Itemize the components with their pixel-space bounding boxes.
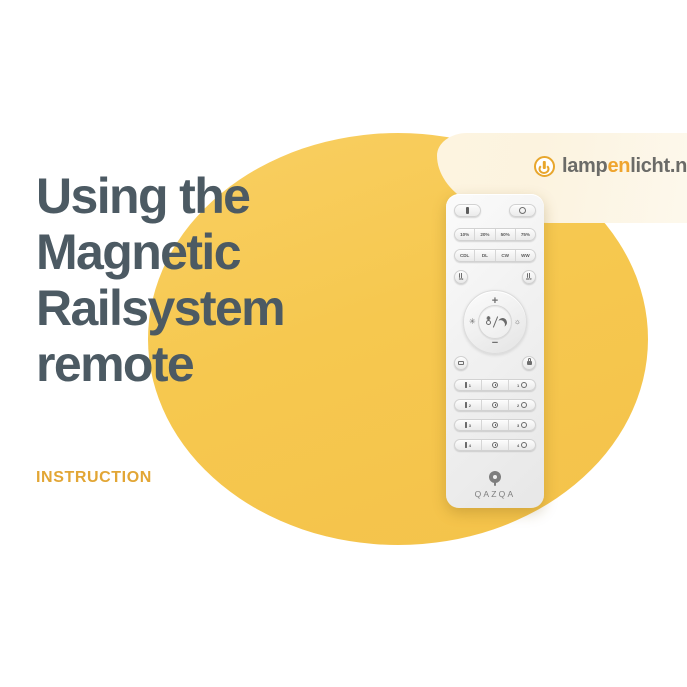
zone-2-timer[interactable] (482, 400, 509, 410)
color-temp-cdl[interactable]: CDL (455, 250, 475, 261)
lampenlicht-logo-text: lampenlicht.n (562, 155, 687, 178)
timer-icon (492, 382, 498, 388)
zone-4-power-number: 4 (517, 443, 519, 448)
color-temp-ww[interactable]: WW (516, 250, 535, 261)
zone-3-power-number: 3 (517, 423, 519, 428)
zone-4-power[interactable]: 4 (509, 440, 535, 450)
qazqa-branding: QAZQA (446, 471, 544, 499)
zone-2-power-number: 2 (517, 403, 519, 408)
scene-on-button[interactable]: ON (454, 270, 468, 284)
headline-line-2: Magnetic (36, 224, 366, 280)
moon-icon (496, 316, 507, 327)
page-title: Using the Magnetic Railsystem remote (36, 168, 366, 392)
brightness-preset-row: 10% 20% 50% 75% (454, 228, 536, 241)
dial-minus-label[interactable]: − (492, 338, 498, 349)
logo-text-part2: en (607, 155, 630, 177)
power-button[interactable] (509, 204, 536, 217)
logo-text-part1: lamp (562, 155, 607, 177)
zone-bar-icon (465, 442, 467, 448)
remote-control: 10% 20% 50% 75% CDL DL CW WW ON OFF + − … (446, 194, 544, 508)
zone-1-number: 1 (469, 383, 471, 388)
scene-off-button[interactable]: OFF (522, 270, 536, 284)
zone-3-number: 3 (469, 423, 471, 428)
lock-icon (527, 361, 532, 365)
dial-center-button[interactable] (478, 305, 512, 339)
brightness-preset-10[interactable]: 10% (455, 229, 475, 240)
zone-1-power[interactable]: 1 (509, 380, 535, 390)
zone-1-brightness[interactable]: 1 (455, 380, 482, 390)
sun-icon[interactable]: ☼ (514, 318, 521, 326)
zone-3-brightness[interactable]: 3 (455, 420, 482, 430)
color-temp-dl[interactable]: DL (475, 250, 495, 261)
scene-preset-icon (458, 361, 464, 366)
zone-row-2: 2 2 (454, 399, 536, 411)
ring-icon (519, 207, 526, 214)
zone-3-timer[interactable] (482, 420, 509, 430)
zone-ring-icon (521, 442, 528, 449)
brightness-preset-75[interactable]: 75% (516, 229, 535, 240)
brightness-preset-20[interactable]: 20% (475, 229, 495, 240)
snowflake-icon[interactable]: ✳ (469, 318, 476, 326)
headline-line-1: Using the (36, 168, 366, 224)
zone-1-timer[interactable] (482, 380, 509, 390)
zone-4-timer[interactable] (482, 440, 509, 450)
kicker-label: INSTRUCTION (36, 469, 152, 487)
scene-on-label: ON (459, 278, 464, 281)
remote-top-row (454, 204, 536, 217)
zone-ring-icon (521, 402, 528, 409)
timer-icon (492, 422, 498, 428)
zone-2-brightness[interactable]: 2 (455, 400, 482, 410)
slide-canvas: lampenlicht.n Using the Magnetic Railsys… (0, 0, 687, 687)
zone-4-number: 4 (469, 443, 471, 448)
zone-row-1: 1 1 (454, 379, 536, 391)
logo-text-part3: licht.n (630, 155, 687, 177)
bar-icon (466, 207, 469, 214)
qazqa-pin-icon (489, 471, 501, 486)
zone-3-power[interactable]: 3 (509, 420, 535, 430)
color-temp-cw[interactable]: CW (496, 250, 516, 261)
zone-bar-icon (465, 382, 467, 388)
color-temp-preset-row: CDL DL CW WW (454, 249, 536, 262)
zone-row-4: 4 4 (454, 439, 536, 451)
headline-line-3: Railsystem (36, 280, 366, 336)
zone-row-3: 3 3 (454, 419, 536, 431)
zone-bar-icon (465, 422, 467, 428)
scene-off-label: OFF (526, 278, 532, 281)
lampenlicht-logo: lampenlicht.n (534, 155, 687, 178)
zone-1-power-number: 1 (517, 383, 519, 388)
zone-2-number: 2 (469, 403, 471, 408)
control-dial[interactable]: + − ✳ ☼ (463, 290, 527, 354)
zone-bar-icon (465, 402, 467, 408)
timer-icon (492, 442, 498, 448)
lock-button[interactable] (522, 356, 536, 370)
headline-line-4: remote (36, 336, 366, 392)
zone-ring-icon (521, 382, 528, 389)
timer-icon (492, 402, 498, 408)
scene-preset-button[interactable] (454, 356, 468, 370)
zone-2-power[interactable]: 2 (509, 400, 535, 410)
brightness-button[interactable] (454, 204, 481, 217)
power-circle-icon (534, 156, 555, 177)
zone-ring-icon (521, 422, 528, 429)
brightness-preset-50[interactable]: 50% (496, 229, 516, 240)
zone-4-brightness[interactable]: 4 (455, 440, 482, 450)
qazqa-brand-text: QAZQA (475, 489, 516, 499)
